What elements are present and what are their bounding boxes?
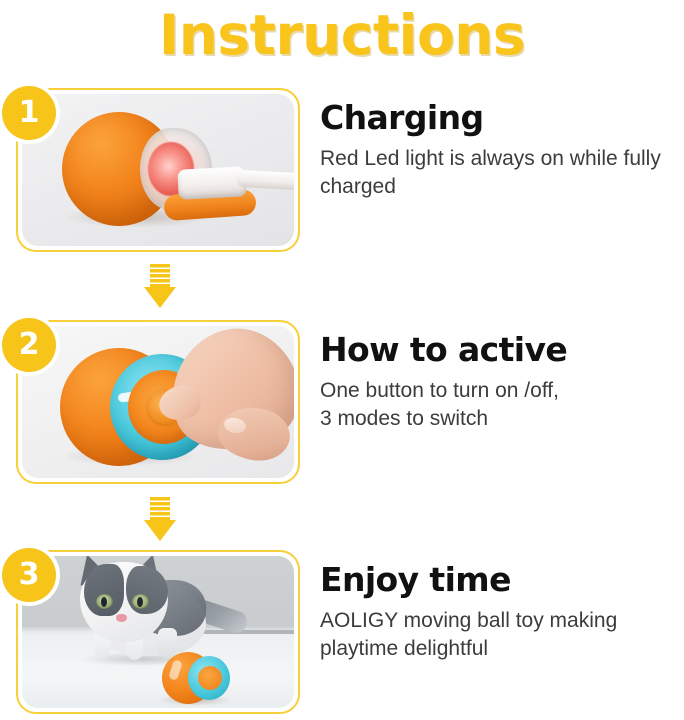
page-title: Instructions (0, 2, 684, 68)
step-2-number-badge: 2 (2, 318, 56, 372)
step-2-body: One button to turn on /off, 3 modes to s… (320, 377, 678, 433)
step-1-text: Charging Red Led light is always on whil… (320, 98, 678, 201)
button-press-photo-illustration (22, 326, 294, 478)
step-1-photo (22, 94, 294, 246)
step-2-text: How to active One button to turn on /off… (320, 330, 678, 433)
step-3: 3 Enjoy time AOLIGY moving ball toy maki… (0, 550, 684, 714)
arrow-shaft (150, 264, 170, 288)
cat-nose (116, 614, 127, 622)
arrow-shaft (150, 497, 170, 521)
step-1: 1 Charging Red Led light is always on wh… (0, 88, 684, 254)
arrow-head (144, 520, 176, 541)
cat-pupil-right (137, 597, 143, 607)
step-1-image-card (16, 88, 300, 252)
step-1-heading: Charging (320, 98, 678, 138)
step-2-heading: How to active (320, 330, 678, 370)
kitten-photo-illustration (22, 556, 294, 708)
step-3-body: AOLIGY moving ball toy making playtime d… (320, 607, 678, 663)
step-2: 2 How to active One button to turn on /o… (0, 320, 684, 486)
step-2-image-card (16, 320, 300, 484)
arrow-head (144, 287, 176, 308)
step-3-number-badge: 3 (2, 548, 56, 602)
step-3-photo (22, 556, 294, 708)
step-3-image-card (16, 550, 300, 714)
charging-photo-illustration (22, 94, 294, 246)
step-3-heading: Enjoy time (320, 560, 678, 600)
arrow-down-icon-2 (144, 497, 176, 541)
arrow-down-icon-1 (144, 264, 176, 308)
cat-pupil-left (101, 597, 107, 607)
step-1-body: Red Led light is always on while fully c… (320, 145, 678, 201)
toy-button (198, 666, 222, 690)
step-3-text: Enjoy time AOLIGY moving ball toy making… (320, 560, 678, 663)
step-2-photo (22, 326, 294, 478)
step-1-number-badge: 1 (2, 86, 56, 140)
cat-leg (158, 628, 177, 658)
